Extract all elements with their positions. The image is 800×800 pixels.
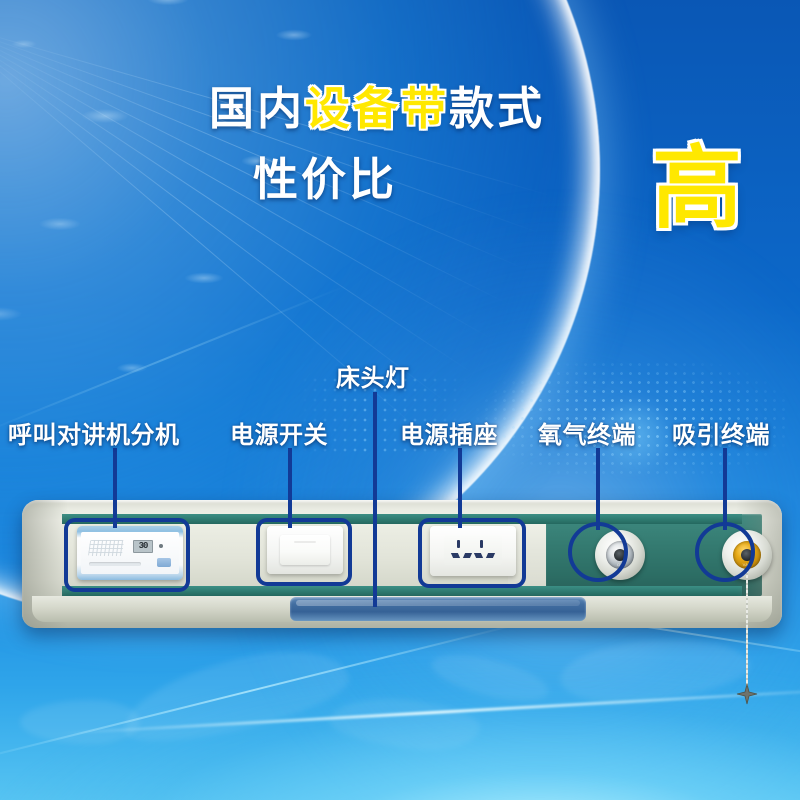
promo-banner: 国内设备带款式 性价比 高 呼叫对讲机分机 电源开关 床头灯 电源插座 氧气终端… <box>0 0 800 800</box>
callout-label-intercom: 呼叫对讲机分机 <box>8 415 180 450</box>
callout-label-oxygen: 氧气终端 <box>538 415 636 450</box>
callout-label-socket: 电源插座 <box>400 415 498 450</box>
callout-label-suction: 吸引终端 <box>672 415 770 450</box>
callout-label-group: 呼叫对讲机分机 电源开关 床头灯 电源插座 氧气终端 吸引终端 <box>0 0 800 800</box>
callout-label-switch: 电源开关 <box>230 415 328 450</box>
callout-label-bedlamp: 床头灯 <box>336 358 410 393</box>
